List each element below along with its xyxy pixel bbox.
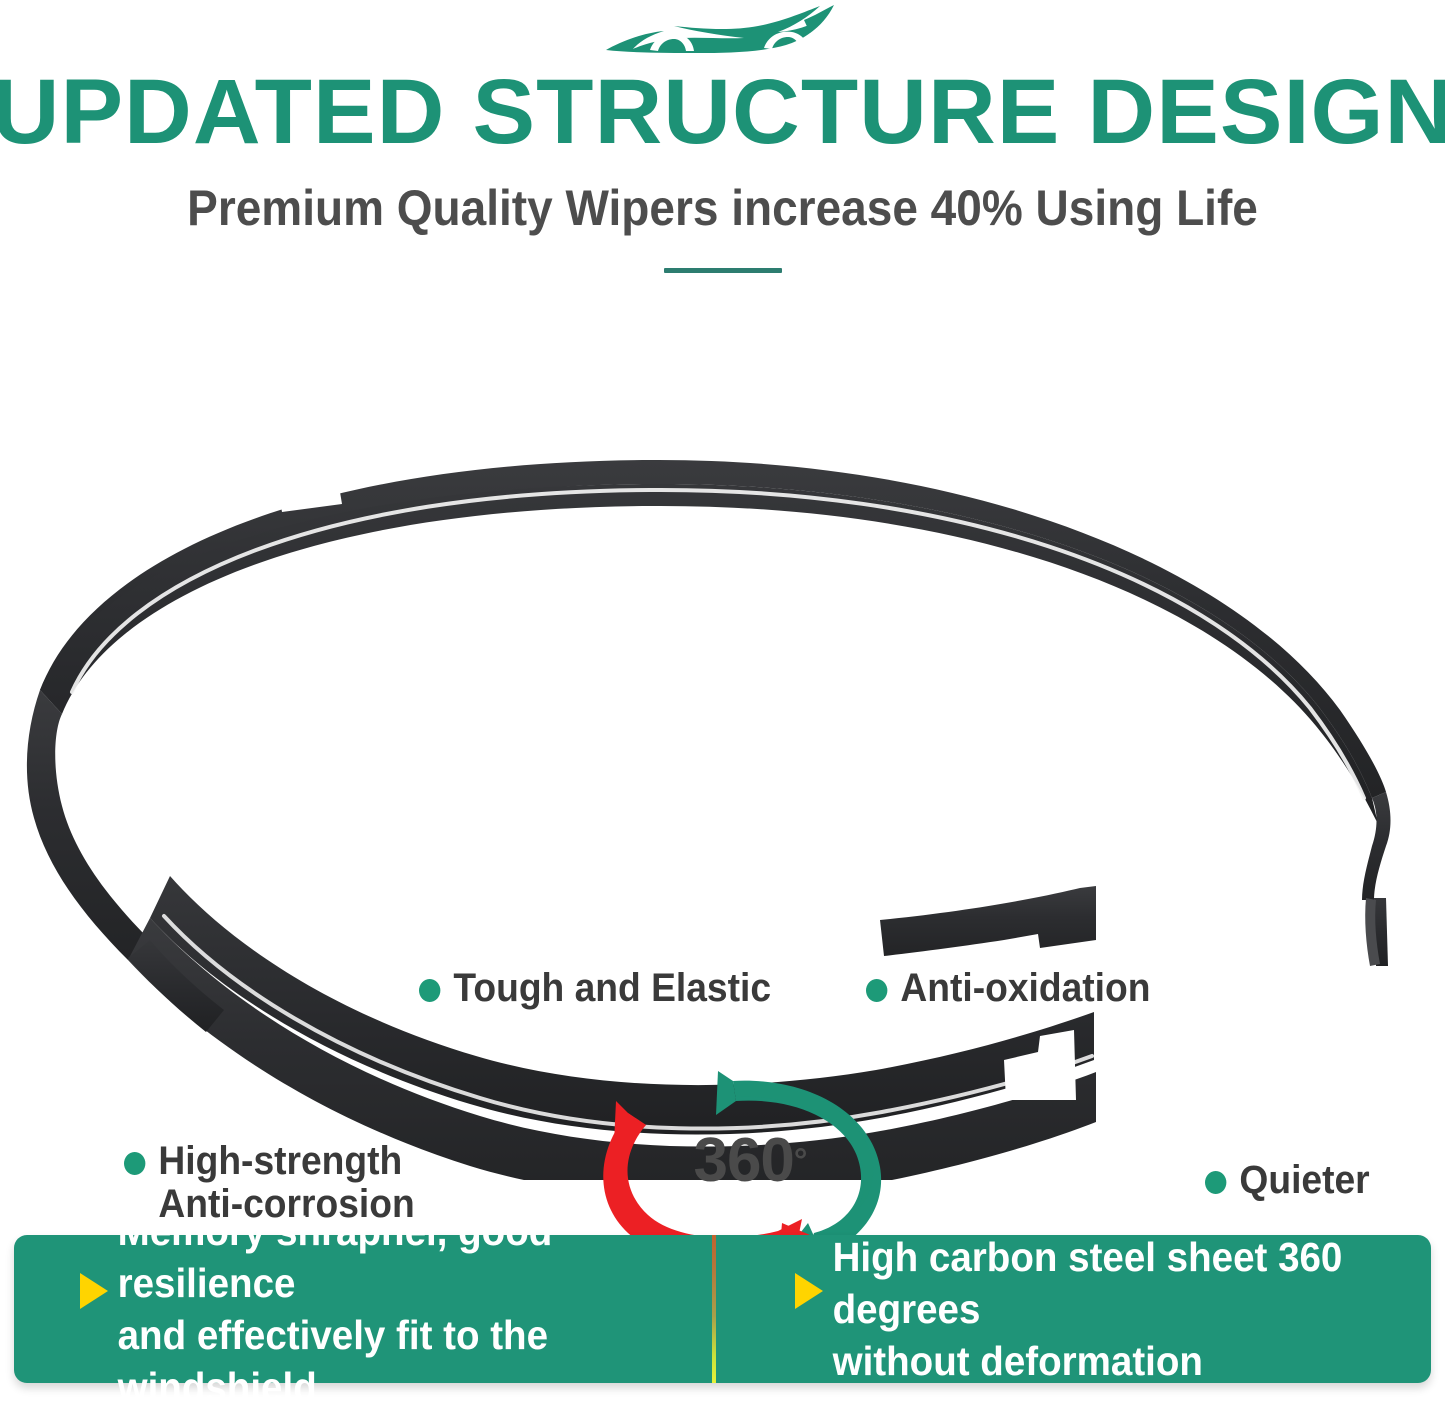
banner-item-memory-shrapnel: Memory shrapnel, good resilience and eff… xyxy=(14,1235,723,1383)
feature-label-text: Tough and Elastic xyxy=(453,967,771,1010)
bullet-dot-icon xyxy=(419,979,440,1002)
bottom-feature-banner: Memory shrapnel, good resilience and eff… xyxy=(14,1235,1431,1383)
bullet-dot-icon xyxy=(124,1152,145,1175)
feature-label-text: Anti-oxidation xyxy=(900,967,1150,1010)
feature-label-anti-oxidation: Anti-oxidation xyxy=(866,967,1150,1010)
banner-divider xyxy=(712,1235,716,1383)
banner-item-high-carbon-steel: High carbon steel sheet 360 degrees with… xyxy=(723,1235,1432,1383)
title-divider xyxy=(664,268,782,273)
feature-label-tough-and-elastic: Tough and Elastic xyxy=(419,967,771,1010)
feature-label-text: Quieter xyxy=(1239,1159,1369,1202)
product-stage: 360° Tough and Elastic Anti-oxidation Hi… xyxy=(0,400,1445,1180)
bullet-dot-icon xyxy=(1205,1171,1226,1194)
product-infographic: UPDATED STRUCTURE DESIGN Premium Quality… xyxy=(0,0,1445,1421)
bullet-dot-icon xyxy=(866,979,887,1002)
car-silhouette-icon xyxy=(598,4,848,56)
page-title: UPDATED STRUCTURE DESIGN xyxy=(0,60,1445,164)
feature-label-quieter: Quieter xyxy=(1205,1159,1370,1202)
banner-item-text: Memory shrapnel, good resilience and eff… xyxy=(80,1205,684,1413)
banner-item-text: High carbon steel sheet 360 degrees with… xyxy=(795,1231,1393,1387)
page-subtitle: Premium Quality Wipers increase 40% Usin… xyxy=(58,178,1387,238)
